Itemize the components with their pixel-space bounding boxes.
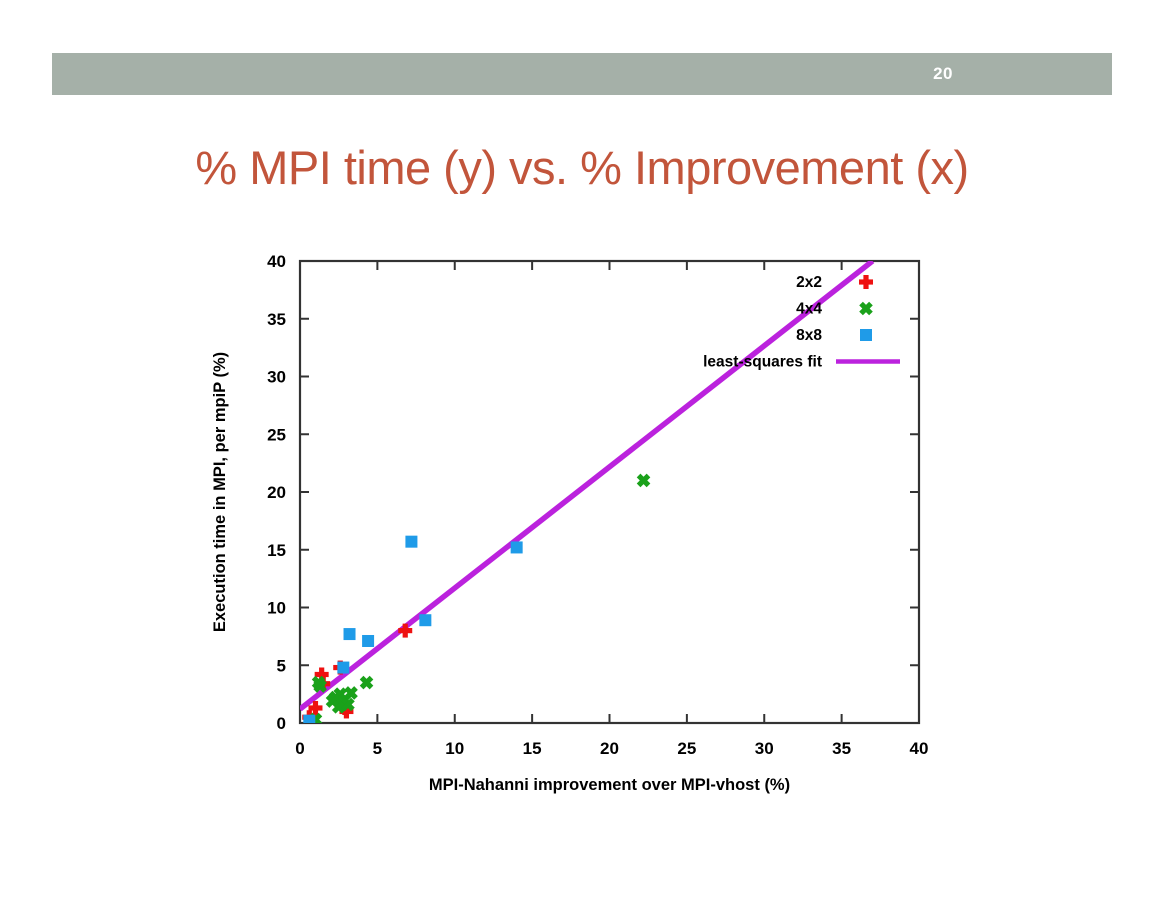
x-axis-tick-label: 0	[295, 739, 304, 758]
legend-label-4x4: 4x4	[796, 301, 822, 318]
chart-svg: 05101520253035400510152025303540MPI-Naha…	[0, 232, 1164, 812]
x-axis-tick-label: 35	[832, 739, 851, 758]
y-axis-title: Execution time in MPI, per mpiP (%)	[211, 352, 229, 632]
y-axis-tick-label: 30	[267, 368, 286, 387]
legend-marker-8x8	[860, 329, 872, 341]
data-point-2x2	[313, 701, 318, 715]
legend-label-least-squares-fit: least-squares fit	[703, 354, 822, 371]
slide-canvas: 20 % MPI time (y) vs. % Improvement (x) …	[0, 0, 1164, 899]
y-axis-tick-label: 10	[267, 599, 286, 618]
legend-label-8x8: 8x8	[796, 327, 822, 344]
x-axis-tick-label: 30	[755, 739, 774, 758]
y-axis-tick-label: 20	[267, 483, 286, 502]
x-axis-tick-label: 5	[373, 739, 382, 758]
data-point-8x8	[344, 628, 356, 640]
x-axis-tick-label: 25	[677, 739, 696, 758]
data-point-8x8	[511, 541, 523, 553]
legend-marker-2x2	[863, 275, 868, 289]
data-point-2x2	[403, 624, 408, 638]
y-axis-tick-label: 5	[277, 656, 286, 675]
slide-header-bar: 20	[52, 53, 1112, 95]
y-axis-tick-label: 15	[267, 541, 286, 560]
legend-label-2x2: 2x2	[796, 274, 822, 291]
y-axis-tick-label: 40	[267, 252, 286, 271]
y-axis-tick-label: 35	[267, 310, 286, 329]
data-point-8x8	[303, 715, 315, 727]
data-point-8x8	[337, 662, 349, 674]
data-point-8x8	[405, 536, 417, 548]
x-axis-tick-label: 20	[600, 739, 619, 758]
x-axis-tick-label: 15	[523, 739, 542, 758]
page-title: % MPI time (y) vs. % Improvement (x)	[0, 140, 1164, 195]
y-axis-tick-label: 0	[277, 714, 286, 733]
x-axis-tick-label: 40	[910, 739, 929, 758]
x-axis-title: MPI-Nahanni improvement over MPI-vhost (…	[429, 776, 790, 794]
page-number: 20	[933, 64, 953, 84]
data-point-8x8	[419, 614, 431, 626]
plot-frame	[300, 261, 919, 723]
x-axis-tick-label: 10	[445, 739, 464, 758]
scatter-chart: 05101520253035400510152025303540MPI-Naha…	[0, 232, 1164, 812]
y-axis-tick-label: 25	[267, 425, 286, 444]
data-point-8x8	[362, 635, 374, 647]
